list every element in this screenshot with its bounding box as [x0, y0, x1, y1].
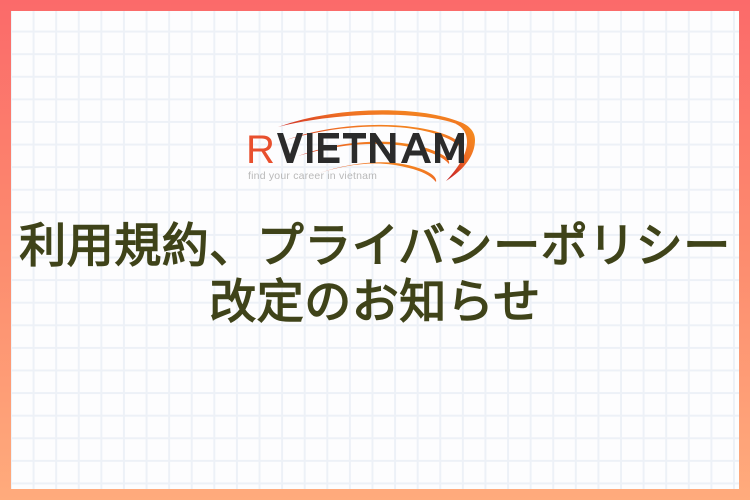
- headline-line-2: 改定のお知らせ: [11, 275, 739, 331]
- logo-letter-r: R: [246, 128, 275, 172]
- headline: 利用規約、プライバシーポリシー 改定のお知らせ: [11, 219, 739, 332]
- logo-svg: R: [246, 109, 504, 185]
- logo-tagline: find your career in vietnam: [248, 170, 377, 182]
- rvietnam-logo: R: [246, 109, 504, 185]
- headline-line-1: 利用規約、プライバシーポリシー: [11, 219, 739, 275]
- grid-canvas: R: [11, 11, 739, 489]
- banner-frame: R: [0, 0, 750, 500]
- logo-wordmark: [277, 133, 464, 163]
